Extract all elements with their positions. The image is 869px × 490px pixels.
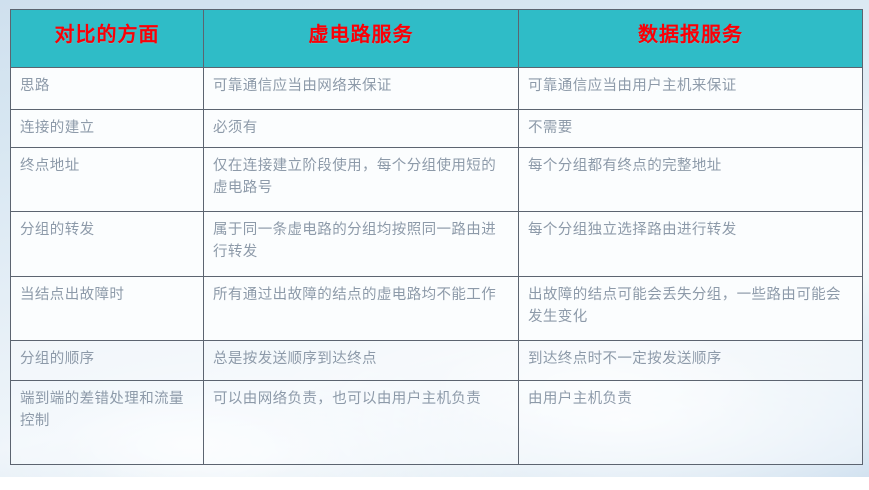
table-row: 当结点出故障时 所有通过出故障的结点的虚电路均不能工作 出故障的结点可能会丢失分…	[11, 277, 863, 341]
table-header-row: 对比的方面 虚电路服务 数据报服务	[11, 10, 863, 68]
slide-canvas: 对比的方面 虚电路服务 数据报服务 思路 可靠通信应当由网络来保证 可靠通信应当…	[0, 0, 869, 477]
cell-aspect: 分组的转发	[11, 212, 204, 277]
column-header-datagram: 数据报服务	[519, 10, 863, 68]
table-row: 终点地址 仅在连接建立阶段使用，每个分组使用短的虚电路号 每个分组都有终点的完整…	[11, 148, 863, 212]
cell-aspect: 分组的顺序	[11, 341, 204, 381]
column-header-virtual-circuit: 虚电路服务	[204, 10, 519, 68]
cell-datagram: 每个分组独立选择路由进行转发	[519, 212, 863, 277]
cell-virtual-circuit: 必须有	[204, 110, 519, 148]
cell-aspect: 当结点出故障时	[11, 277, 204, 341]
cell-text: 分组的顺序	[20, 349, 194, 371]
cell-datagram: 可靠通信应当由用户主机来保证	[519, 68, 863, 110]
cell-aspect: 端到端的差错处理和流量控制	[11, 381, 204, 465]
cell-virtual-circuit: 可以由网络负责，也可以由用户主机负责	[204, 381, 519, 465]
cell-text: 总是按发送顺序到达终点	[213, 349, 509, 371]
cell-text: 思路	[20, 76, 194, 98]
cell-text: 仅在连接建立阶段使用，每个分组使用短的虚电路号	[213, 156, 509, 200]
cell-text: 连接的建立	[20, 118, 194, 140]
cell-virtual-circuit: 可靠通信应当由网络来保证	[204, 68, 519, 110]
cell-aspect: 思路	[11, 68, 204, 110]
cell-text: 端到端的差错处理和流量控制	[20, 389, 194, 433]
table-row: 连接的建立 必须有 不需要	[11, 110, 863, 148]
cell-text: 属于同一条虚电路的分组均按照同一路由进行转发	[213, 220, 509, 264]
table-header: 对比的方面 虚电路服务 数据报服务	[11, 10, 863, 68]
cell-text: 可以由网络负责，也可以由用户主机负责	[213, 389, 509, 411]
cell-virtual-circuit: 所有通过出故障的结点的虚电路均不能工作	[204, 277, 519, 341]
cell-text: 每个分组独立选择路由进行转发	[528, 220, 853, 242]
cell-text: 可靠通信应当由网络来保证	[213, 76, 509, 98]
cell-text: 可靠通信应当由用户主机来保证	[528, 76, 853, 98]
cell-text: 每个分组都有终点的完整地址	[528, 156, 853, 178]
comparison-table: 对比的方面 虚电路服务 数据报服务 思路 可靠通信应当由网络来保证 可靠通信应当…	[10, 9, 863, 465]
cell-text: 当结点出故障时	[20, 285, 194, 307]
cell-text: 到达终点时不一定按发送顺序	[528, 349, 853, 371]
table-row: 分组的转发 属于同一条虚电路的分组均按照同一路由进行转发 每个分组独立选择路由进…	[11, 212, 863, 277]
table-body: 思路 可靠通信应当由网络来保证 可靠通信应当由用户主机来保证 连接的建立 必须有…	[11, 68, 863, 465]
cell-virtual-circuit: 属于同一条虚电路的分组均按照同一路由进行转发	[204, 212, 519, 277]
cell-text: 所有通过出故障的结点的虚电路均不能工作	[213, 285, 509, 307]
cell-datagram: 到达终点时不一定按发送顺序	[519, 341, 863, 381]
cell-datagram: 每个分组都有终点的完整地址	[519, 148, 863, 212]
column-header-aspect: 对比的方面	[11, 10, 204, 68]
cell-text: 出故障的结点可能会丢失分组，一些路由可能会发生变化	[528, 285, 853, 329]
cell-datagram: 不需要	[519, 110, 863, 148]
comparison-table-container: 对比的方面 虚电路服务 数据报服务 思路 可靠通信应当由网络来保证 可靠通信应当…	[10, 9, 862, 465]
cell-text: 分组的转发	[20, 220, 194, 242]
cell-text: 由用户主机负责	[528, 389, 853, 411]
cell-text: 不需要	[528, 118, 853, 140]
cell-virtual-circuit: 仅在连接建立阶段使用，每个分组使用短的虚电路号	[204, 148, 519, 212]
table-row: 思路 可靠通信应当由网络来保证 可靠通信应当由用户主机来保证	[11, 68, 863, 110]
table-row: 分组的顺序 总是按发送顺序到达终点 到达终点时不一定按发送顺序	[11, 341, 863, 381]
cell-text: 终点地址	[20, 156, 194, 178]
cell-aspect: 终点地址	[11, 148, 204, 212]
cell-datagram: 出故障的结点可能会丢失分组，一些路由可能会发生变化	[519, 277, 863, 341]
cell-aspect: 连接的建立	[11, 110, 204, 148]
cell-text: 必须有	[213, 118, 509, 140]
cell-virtual-circuit: 总是按发送顺序到达终点	[204, 341, 519, 381]
cell-datagram: 由用户主机负责	[519, 381, 863, 465]
table-row: 端到端的差错处理和流量控制 可以由网络负责，也可以由用户主机负责 由用户主机负责	[11, 381, 863, 465]
